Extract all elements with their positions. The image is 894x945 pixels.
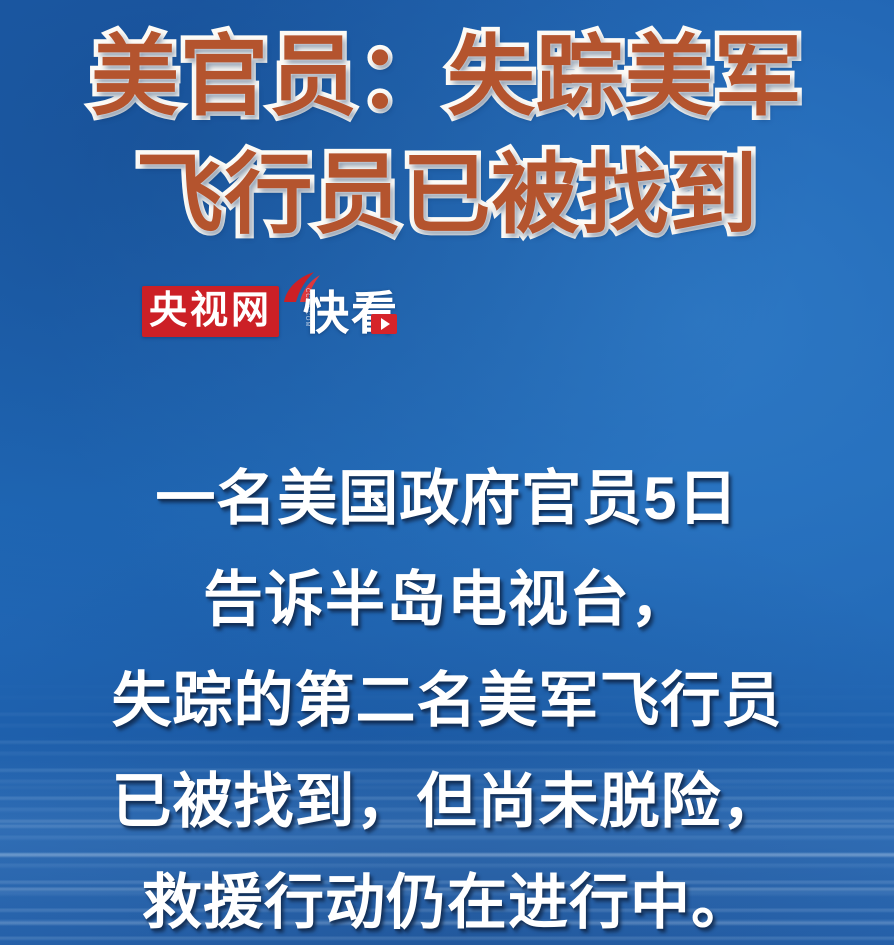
play-triangle-icon — [371, 314, 397, 334]
body-line-5: 救援行动仍在进行中。 — [0, 852, 894, 945]
body-line-3: 失踪的第二名美军飞行员 — [0, 650, 894, 751]
headline-line-1: 美官员：失踪美军 — [0, 18, 894, 136]
body-line-1: 一名美国政府官员5日 — [0, 448, 894, 549]
cctv-logo-text: 央视网 — [149, 290, 272, 332]
headline: 美官员：失踪美军 飞行员已被找到 — [0, 18, 894, 254]
kuaikan-wrapper: 快看 — [303, 289, 399, 337]
body-text: 一名美国政府官员5日 告诉半岛电视台， 失踪的第二名美军飞行员 已被找到，但尚未… — [0, 448, 894, 945]
body-line-4: 已被找到，但尚未脱险， — [0, 751, 894, 852]
cctv-logo-box: 央视网 — [142, 286, 279, 337]
headline-line-2: 飞行员已被找到 — [0, 136, 894, 254]
body-line-2: 告诉半岛电视台， — [0, 549, 894, 650]
news-card: 美官员：失踪美军 飞行员已被找到 央视网 CCTV.COM 快看 一名美国政府官… — [0, 0, 894, 945]
brand-logo: 央视网 CCTV.COM 快看 — [142, 286, 399, 337]
